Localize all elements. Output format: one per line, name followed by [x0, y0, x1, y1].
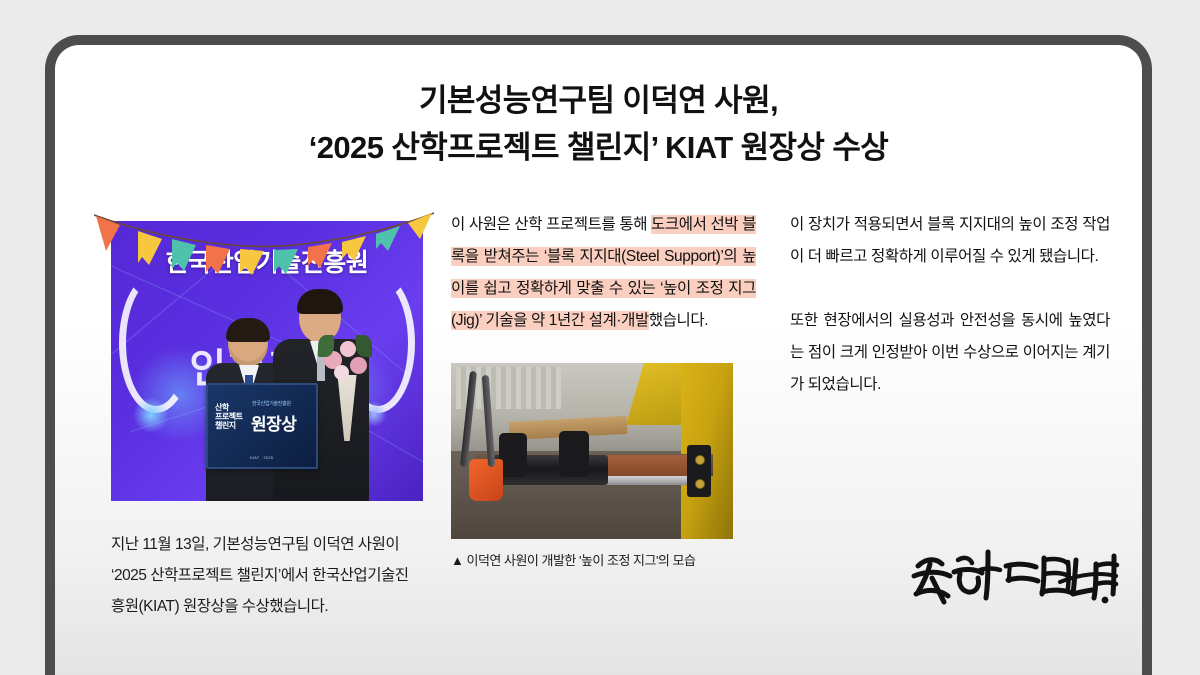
bouquet-flowers	[316, 333, 376, 443]
backdrop-headline: 한국산업기술진흥원	[111, 243, 423, 279]
congratulations-calligraphy	[910, 538, 1120, 618]
title-line-2: ‘2025 산학프로젝트 챌린지’ KIAT 원장상 수상	[55, 124, 1142, 171]
jig-device-photo	[451, 363, 733, 539]
plaque-title-text: 원장상	[251, 410, 296, 435]
award-photo-caption: 지난 11월 13일, 기본성능연구팀 이덕연 사원이 ‘2025 산학프로젝트…	[111, 529, 411, 622]
plaque-logo-text: 산학프로젝트챌린지	[215, 403, 242, 431]
device-frame: 기본성능연구팀 이덕연 사원, ‘2025 산학프로젝트 챌린지’ KIAT 원…	[45, 35, 1152, 675]
column-left: 한국산업기술진흥원 인재포럼	[55, 209, 440, 622]
jig-photo-caption: ▲ 이덕연 사원이 개발한 '높이 조정 지그'의 모습	[451, 550, 751, 569]
award-plaque: 산학프로젝트챌린지 한국산업기술진흥원 원장상 KIAT · 2025	[206, 383, 318, 469]
award-photo-container: 한국산업기술진흥원 인재포럼	[94, 211, 423, 501]
plaque-footer-text: KIAT · 2025	[250, 455, 273, 460]
page-title: 기본성능연구팀 이덕연 사원, ‘2025 산학프로젝트 챌린지’ KIAT 원…	[55, 45, 1142, 171]
plaque-org-text: 한국산업기술진흥원	[252, 400, 291, 407]
column-middle: 이 사원은 산학 프로젝트를 통해 도크에서 선박 블록을 받쳐주는 ‘블록 지…	[440, 209, 780, 622]
middle-paragraph: 이 사원은 산학 프로젝트를 통해 도크에서 선박 블록을 받쳐주는 ‘블록 지…	[451, 209, 756, 337]
middle-paragraph-pre: 이 사원은 산학 프로젝트를 통해	[451, 216, 651, 233]
right-paragraph-2: 또한 현장에서의 실용성과 안전성을 동시에 높였다는 점이 크게 인정받아 이…	[790, 305, 1110, 401]
slide-surface: 기본성능연구팀 이덕연 사원, ‘2025 산학프로젝트 챌린지’ KIAT 원…	[55, 45, 1142, 675]
jig-caption-text: 이덕연 사원이 개발한 '높이 조정 지그'의 모습	[467, 553, 696, 568]
award-ceremony-photo: 한국산업기술진흥원 인재포럼	[111, 221, 423, 501]
right-paragraph-1: 이 장치가 적용되면서 블록 지지대의 높이 조정 작업이 더 빠르고 정확하게…	[790, 209, 1110, 273]
middle-paragraph-post: 했습니다.	[649, 312, 708, 329]
caption-triangle-icon: ▲	[451, 553, 463, 568]
title-line-1: 기본성능연구팀 이덕연 사원,	[55, 77, 1142, 124]
